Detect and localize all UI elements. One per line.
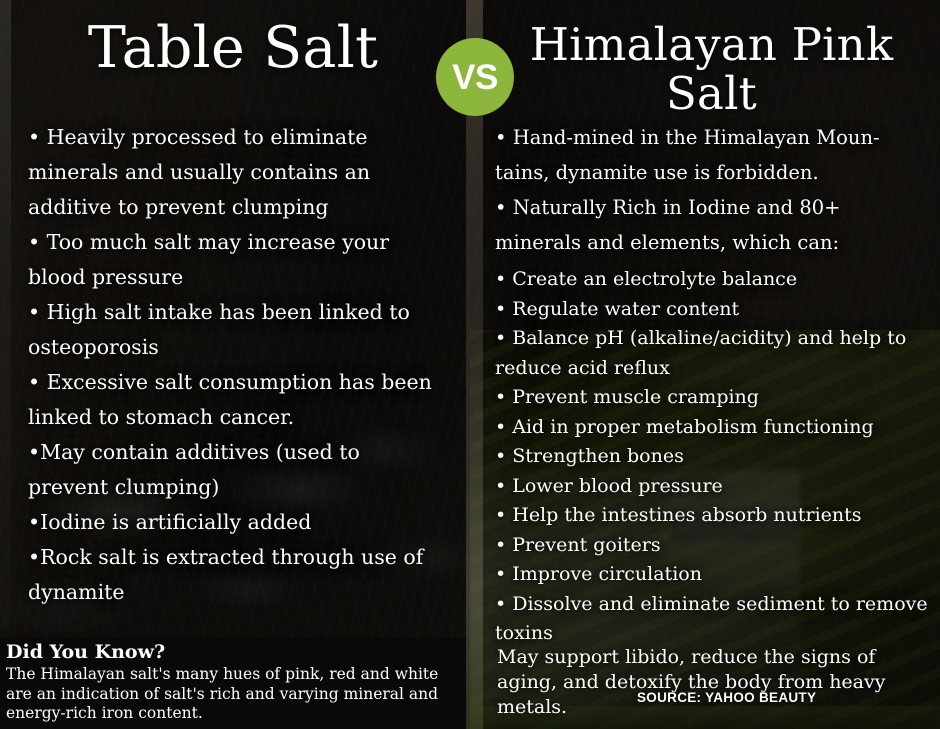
infographic-root: Table Salt • Heavily processed to elimin… bbox=[0, 0, 940, 729]
list-item: • Naturally Rich in Iodine and 80+ miner… bbox=[495, 190, 932, 260]
himalayan-benefits-bullet-list: • Create an electrolyte balance • Regula… bbox=[495, 265, 934, 649]
did-you-know-body: The Himalayan salt's many hues of pink, … bbox=[6, 665, 456, 724]
table-salt-bullet-list: • Heavily processed to eliminate mineral… bbox=[28, 120, 440, 610]
list-item: •May contain additives (used to prevent … bbox=[28, 435, 440, 505]
list-item: • Regulate water content bbox=[495, 295, 934, 325]
list-item: • Strengthen bones bbox=[495, 442, 934, 472]
himalayan-pink-salt-title: Himalayan Pink Salt bbox=[483, 20, 940, 118]
list-item: • Heavily processed to eliminate mineral… bbox=[28, 120, 440, 225]
vs-badge-label: VS bbox=[452, 60, 498, 95]
list-item: • Help the intestines absorb nutrients bbox=[495, 501, 934, 531]
himalayan-pink-salt-column: Himalayan Pink Salt • Hand-mined in the … bbox=[483, 0, 940, 729]
did-you-know-heading: Did You Know? bbox=[6, 641, 456, 664]
list-item: • High salt intake has been linked to os… bbox=[28, 295, 440, 365]
list-item: • Too much salt may increase your blood … bbox=[28, 225, 440, 295]
list-item: • Prevent goiters bbox=[495, 531, 934, 561]
list-item: • Excessive salt consumption has been li… bbox=[28, 365, 440, 435]
list-item: • Hand-mined in the Himalayan Moun-tains… bbox=[495, 120, 932, 190]
list-item: • Aid in proper metabolism functioning bbox=[495, 413, 934, 443]
did-you-know-panel: Did You Know? The Himalayan salt's many … bbox=[0, 637, 466, 729]
list-item: • Prevent muscle cramping bbox=[495, 383, 934, 413]
list-item: • Lower blood pressure bbox=[495, 472, 934, 502]
list-item: • Create an electrolyte balance bbox=[495, 265, 934, 295]
himalayan-intro-bullet-list: • Hand-mined in the Himalayan Moun-tains… bbox=[495, 120, 932, 260]
title-line-1: Himalayan Pink bbox=[530, 18, 894, 71]
source-attribution: SOURCE: YAHOO BEAUTY bbox=[637, 690, 816, 705]
list-item: •Rock salt is extracted through use of d… bbox=[28, 540, 440, 610]
list-item: • Improve circulation bbox=[495, 560, 934, 590]
title-line-2: Salt bbox=[666, 67, 757, 120]
list-item: • Balance pH (alkaline/acidity) and help… bbox=[495, 324, 934, 383]
vs-badge: VS bbox=[436, 38, 514, 116]
list-item: •Iodine is artificially added bbox=[28, 505, 440, 540]
table-salt-title: Table Salt bbox=[0, 16, 466, 80]
table-salt-column: Table Salt • Heavily processed to elimin… bbox=[0, 0, 466, 729]
list-item: • Dissolve and eliminate sediment to rem… bbox=[495, 590, 934, 649]
himalayan-closing-paragraph: May support libido, reduce the signs of … bbox=[497, 645, 914, 720]
